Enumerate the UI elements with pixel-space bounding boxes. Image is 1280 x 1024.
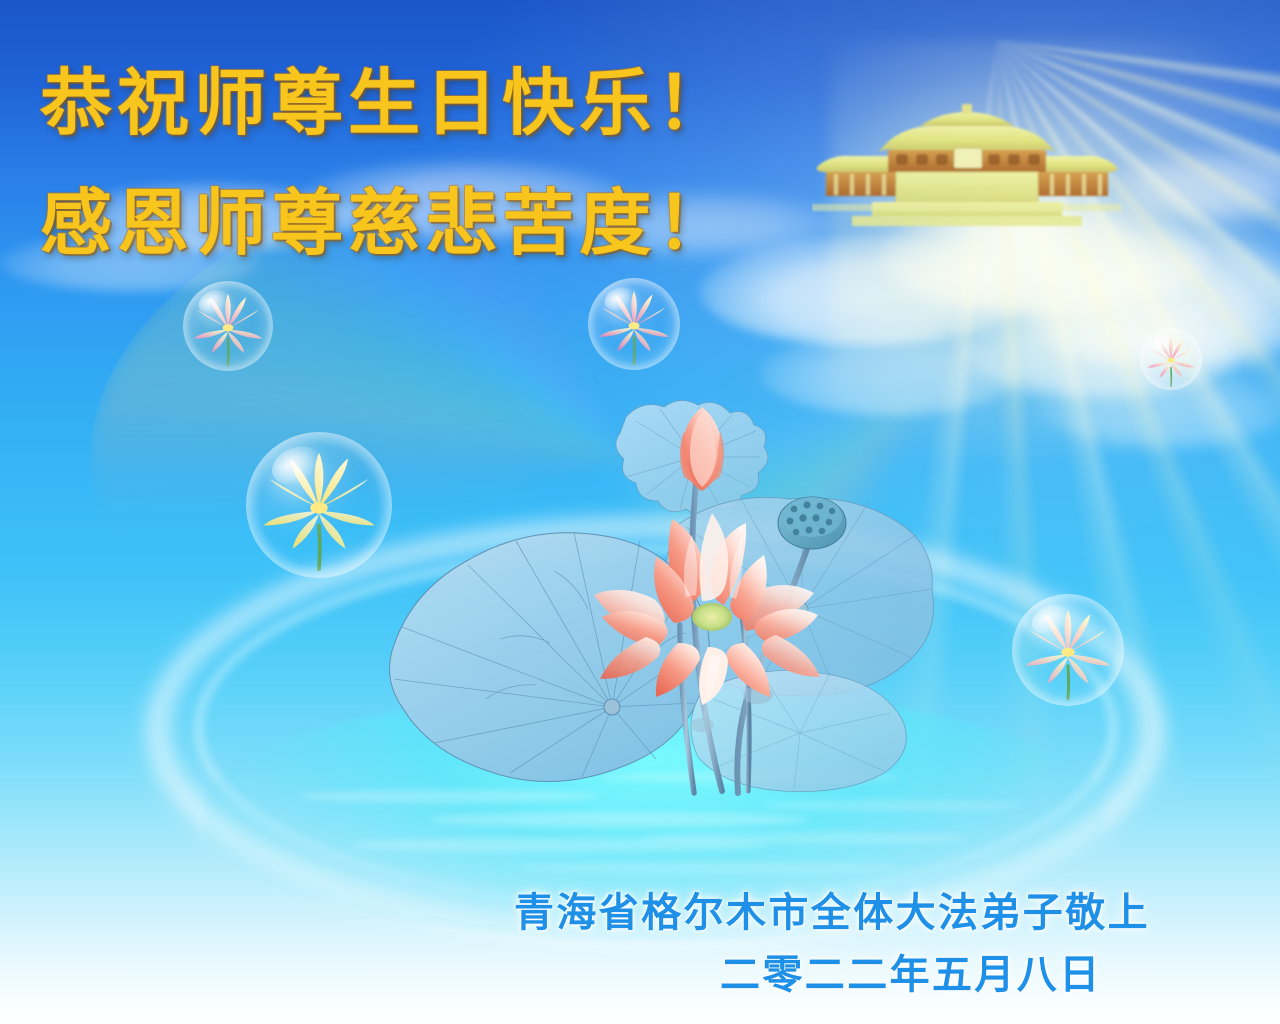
bubble-shell — [588, 278, 680, 370]
greeting-line-2: 感恩师尊慈悲苦度！ — [40, 164, 733, 269]
bubble-lotus-large-left — [246, 432, 392, 578]
water-ripple — [640, 832, 970, 844]
lotus-scene — [350, 395, 970, 815]
water-ripple — [520, 862, 900, 874]
greeting-card: 恭祝师尊生日快乐！ 感恩师尊慈悲苦度！ 青海省格尔木市全体大法弟子敬上 二零二二… — [0, 0, 1280, 1024]
bubble-lotus-right — [1012, 594, 1124, 706]
signature-organization: 青海省格尔木市全体大法弟子敬上 — [514, 880, 1150, 938]
bubble-lotus-top-left — [183, 281, 273, 371]
bubble-shell — [183, 281, 273, 371]
signature-date: 二零二二年五月八日 — [720, 942, 1102, 1000]
golden-palace — [812, 96, 1122, 246]
bubble-lotus-top-right — [1140, 328, 1202, 390]
bubble-lotus-top-center — [588, 278, 680, 370]
greeting-line-1: 恭祝师尊生日快乐！ — [40, 44, 733, 149]
bubble-shell — [246, 432, 392, 578]
bubble-shell — [1012, 594, 1124, 706]
